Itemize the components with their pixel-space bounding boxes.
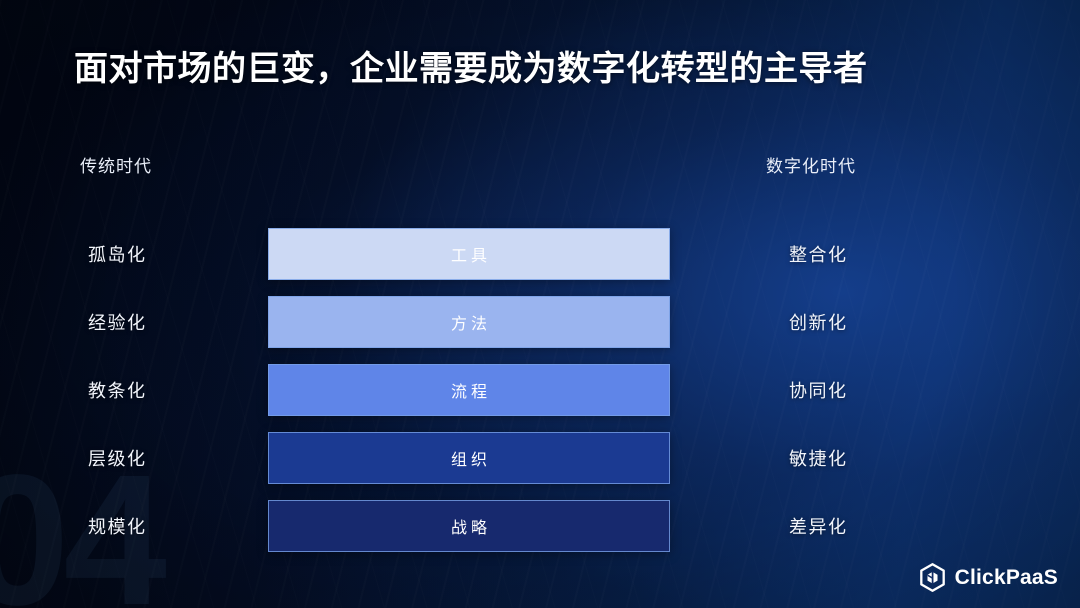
hexagon-cube-icon (919, 563, 946, 592)
traditional-label: 孤岛化 (88, 228, 147, 280)
stage-bar-label: 战略 (447, 514, 491, 538)
brand-name: ClickPaaS (955, 566, 1058, 590)
stage-bar-process[interactable]: 流程 (268, 364, 670, 416)
matrix-row: 孤岛化 工具 整合化 (0, 228, 1080, 280)
matrix-row: 教条化 流程 协同化 (0, 364, 1080, 416)
matrix-row: 经验化 方法 创新化 (0, 296, 1080, 348)
page-title: 面对市场的巨变，企业需要成为数字化转型的主导者 (74, 41, 868, 90)
digital-label: 差异化 (789, 500, 848, 552)
column-header-digital: 数字化时代 (766, 152, 856, 177)
traditional-label: 经验化 (88, 296, 147, 348)
traditional-label: 教条化 (88, 364, 147, 416)
traditional-label: 规模化 (88, 500, 147, 552)
stage-bar-label: 工具 (447, 242, 491, 266)
matrix-row: 规模化 战略 差异化 (0, 500, 1080, 552)
slide-canvas: 04 面对市场的巨变，企业需要成为数字化转型的主导者 传统时代 数字化时代 孤岛… (0, 0, 1080, 608)
stage-bar-tool[interactable]: 工具 (268, 228, 670, 280)
stage-bar-label: 组织 (447, 446, 491, 470)
matrix-row: 层级化 组织 敏捷化 (0, 432, 1080, 484)
digital-label: 协同化 (789, 364, 848, 416)
digital-label: 敏捷化 (789, 432, 848, 484)
digital-label: 整合化 (789, 228, 848, 280)
digital-label: 创新化 (789, 296, 848, 348)
comparison-matrix: 孤岛化 工具 整合化 经验化 方法 创新化 教条化 流程 协同化 层级化 组织 (0, 228, 1080, 552)
stage-bar-method[interactable]: 方法 (268, 296, 670, 348)
stage-bar-organization[interactable]: 组织 (268, 432, 670, 484)
stage-bar-label: 流程 (447, 378, 491, 402)
traditional-label: 层级化 (88, 432, 147, 484)
column-header-traditional: 传统时代 (80, 152, 152, 177)
stage-bar-strategy[interactable]: 战略 (268, 500, 670, 552)
brand-logo: ClickPaaS (919, 563, 1058, 592)
stage-bar-label: 方法 (447, 310, 491, 334)
